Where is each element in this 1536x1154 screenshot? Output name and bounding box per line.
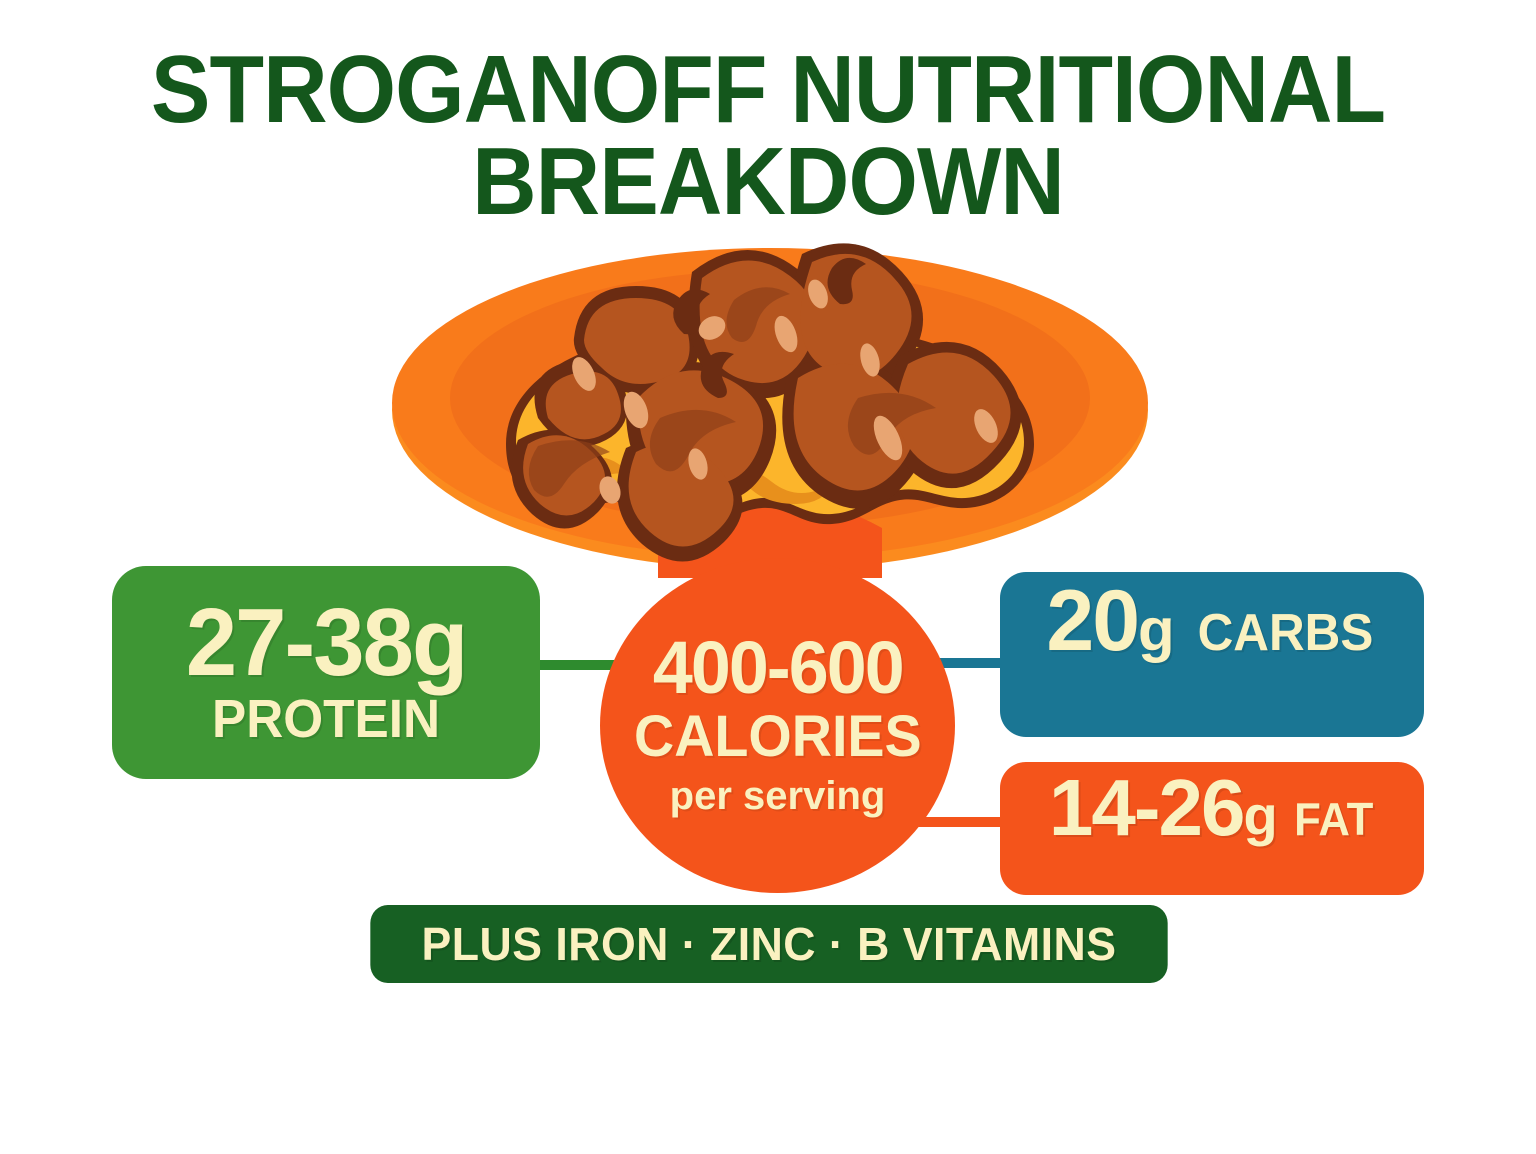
carbs-value: 20 <box>1046 572 1138 671</box>
infographic-canvas: STROGANOFF NUTRITIONAL BREAKDOWN <box>0 0 1536 1154</box>
badge-protein[interactable]: 27-38g PROTEIN <box>112 566 540 779</box>
badge-fat[interactable]: 14-26 g FAT <box>1000 762 1424 895</box>
micronutrients-text: PLUS IRON · ZINC · B VITAMINS <box>422 917 1117 971</box>
carbs-label: CARBS <box>1197 603 1373 663</box>
page-title: STROGANOFF NUTRITIONAL BREAKDOWN <box>54 44 1482 228</box>
carbs-unit: g <box>1138 595 1175 664</box>
badge-calories[interactable]: 400-600 CALORIES per serving <box>600 558 955 893</box>
micronutrients-bar: PLUS IRON · ZINC · B VITAMINS <box>370 905 1167 983</box>
fat-unit: g <box>1243 783 1277 848</box>
stroganoff-plate-illustration <box>388 238 1152 578</box>
calories-subtitle: per serving <box>670 774 886 818</box>
calories-label: CALORIES <box>634 707 922 768</box>
fat-value: 14-26 <box>1049 762 1244 854</box>
protein-value: 27-38g <box>186 599 466 687</box>
fat-label: FAT <box>1294 792 1373 846</box>
protein-label: PROTEIN <box>212 692 440 746</box>
badge-carbs[interactable]: 20 g CARBS <box>1000 572 1424 737</box>
calories-value: 400-600 <box>653 633 903 703</box>
plate-svg <box>388 238 1152 578</box>
